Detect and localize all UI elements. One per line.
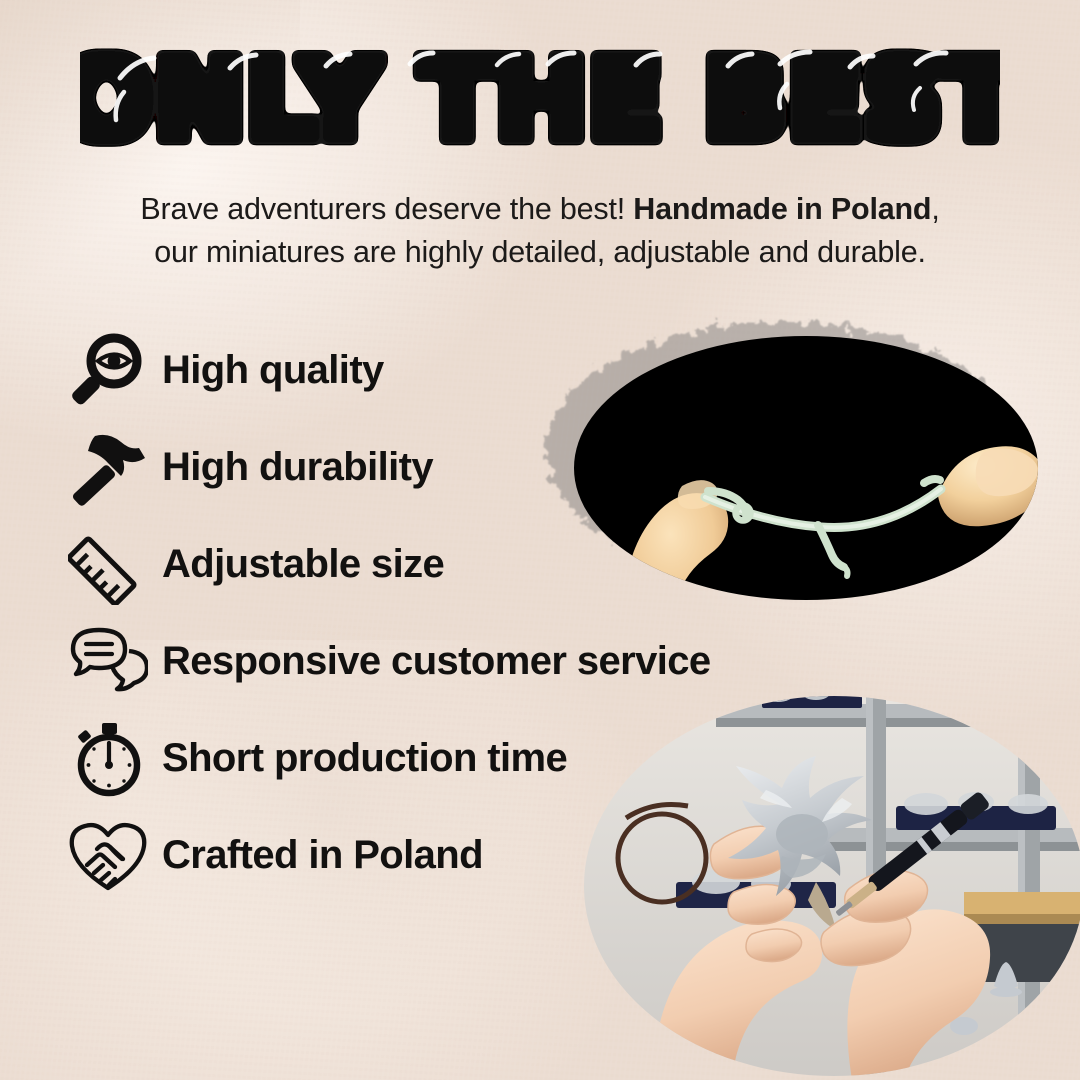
subtitle-tail: , [931,192,939,226]
heart-handshake-icon [62,810,154,902]
feature-label: High durability [162,445,433,490]
subtitle-line2: our miniatures are highly detailed, adju… [154,235,926,269]
subtitle-lead: Brave adventurers deserve the best! [140,192,625,226]
painting-workshop-photo [566,686,1080,1080]
headline: ONLY THE BEST [0,34,1080,162]
feature-label: High quality [162,348,384,393]
hammer-icon [62,422,154,514]
stopwatch-icon [62,713,154,805]
magnifier-eye-icon [62,325,154,417]
flexible-miniature-photo [532,300,1080,630]
subtitle: Brave adventurers deserve the best! Hand… [90,188,990,275]
feature-label: Responsive customer service [162,639,711,684]
poster-root: ONLY THE BEST [0,0,1080,1080]
feature-label: Crafted in Poland [162,833,483,878]
ruler-icon [62,519,154,611]
subtitle-bold: Handmade in Poland [633,192,931,226]
speech-bubbles-icon [62,616,154,708]
headline-bubble-text: ONLY THE BEST [80,34,1000,162]
feature-label: Adjustable size [162,542,444,587]
feature-label: Short production time [162,736,567,781]
